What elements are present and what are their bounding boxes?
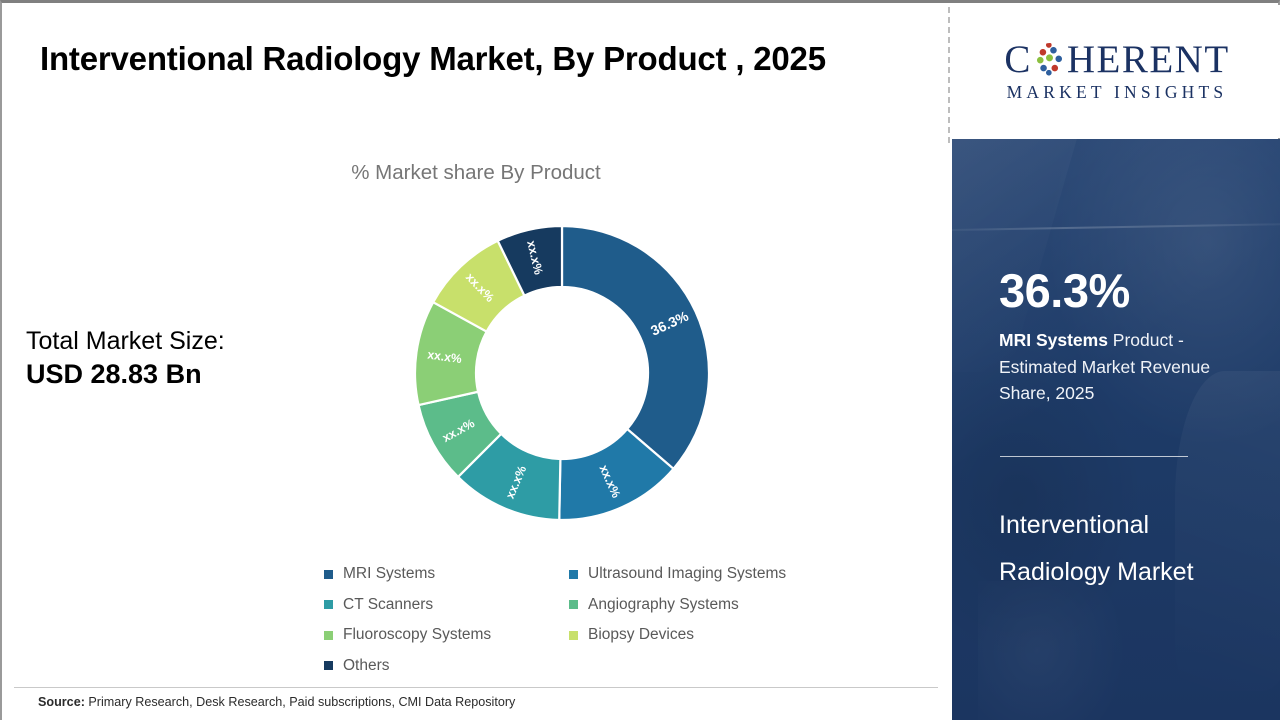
highlight-panel: 36.3% MRI Systems Product - Estimated Ma…: [952, 139, 1280, 720]
panel-market-name: Interventional Radiology Market: [999, 502, 1229, 596]
infographic-slide: Interventional Radiology Market, By Prod…: [0, 0, 1280, 720]
page-title: Interventional Radiology Market, By Prod…: [40, 33, 890, 84]
source-note: Source: Primary Research, Desk Research,…: [38, 695, 515, 709]
chart-pane: Interventional Radiology Market, By Prod…: [2, 3, 950, 720]
vertical-dashed-divider: [948, 7, 950, 143]
legend-item-mri-systems[interactable]: MRI Systems: [324, 565, 569, 583]
legend-item-biopsy-devices[interactable]: Biopsy Devices: [569, 626, 844, 644]
total-market-size-label: Total Market Size:: [26, 325, 225, 357]
legend-label: Ultrasound Imaging Systems: [588, 565, 786, 583]
donut-slice-group: [415, 226, 709, 520]
legend-item-angiography-systems[interactable]: Angiography Systems: [569, 596, 844, 614]
legend-label: CT Scanners: [343, 596, 433, 614]
total-market-size-value: USD 28.83 Bn: [26, 357, 225, 392]
chart-subtitle: % Market share By Product: [2, 161, 950, 185]
source-label: Source:: [38, 695, 85, 709]
total-market-size-block: Total Market Size: USD 28.83 Bn: [26, 325, 225, 392]
highlight-stat-segment: MRI Systems: [999, 330, 1108, 350]
legend-label: MRI Systems: [343, 565, 435, 583]
donut-chart-svg: 36.3%xx.x%xx.x%xx.x%xx.x%xx.x%xx.x%: [412, 223, 712, 523]
legend-item-fluoroscopy-systems[interactable]: Fluoroscopy Systems: [324, 626, 569, 644]
legend-label: Biopsy Devices: [588, 626, 694, 644]
source-divider: [14, 687, 938, 688]
panel-decor-shape-3: [978, 581, 1126, 720]
legend-label: Others: [343, 657, 390, 675]
legend-swatch-angiography-systems: [569, 600, 578, 609]
legend-label: Fluoroscopy Systems: [343, 626, 491, 644]
legend-label: Angiography Systems: [588, 596, 739, 614]
logo-tagline: MARKET INSIGHTS: [1007, 82, 1228, 103]
legend-item-others[interactable]: Others: [324, 657, 569, 675]
panel-divider: [1000, 456, 1188, 457]
logo-word-herent: HERENT: [1067, 40, 1230, 79]
legend-swatch-fluoroscopy-systems: [324, 631, 333, 640]
donut-chart: 36.3%xx.x%xx.x%xx.x%xx.x%xx.x%xx.x%: [412, 223, 712, 523]
dotted-globe-icon: [1033, 43, 1066, 76]
source-text: Primary Research, Desk Research, Paid su…: [85, 695, 515, 709]
brand-logo: C HERENT MARKET INSIGHTS: [954, 5, 1280, 138]
highlight-stat-value: 36.3%: [999, 267, 1130, 314]
highlight-stat-description: MRI Systems Product - Estimated Market R…: [999, 327, 1237, 407]
legend-swatch-mri-systems: [324, 570, 333, 579]
legend-item-ct-scanners[interactable]: CT Scanners: [324, 596, 569, 614]
legend-swatch-ultrasound-imaging-systems: [569, 570, 578, 579]
legend-item-ultrasound-imaging-systems[interactable]: Ultrasound Imaging Systems: [569, 565, 844, 583]
legend-swatch-ct-scanners: [324, 600, 333, 609]
logo-wordmark: C HERENT: [1004, 40, 1229, 79]
logo-letter-c: C: [1004, 40, 1032, 79]
donut-slice-mri-systems[interactable]: [562, 226, 709, 469]
legend-swatch-others: [324, 661, 333, 670]
chart-legend: MRI SystemsUltrasound Imaging SystemsCT …: [324, 559, 844, 681]
legend-swatch-biopsy-devices: [569, 631, 578, 640]
